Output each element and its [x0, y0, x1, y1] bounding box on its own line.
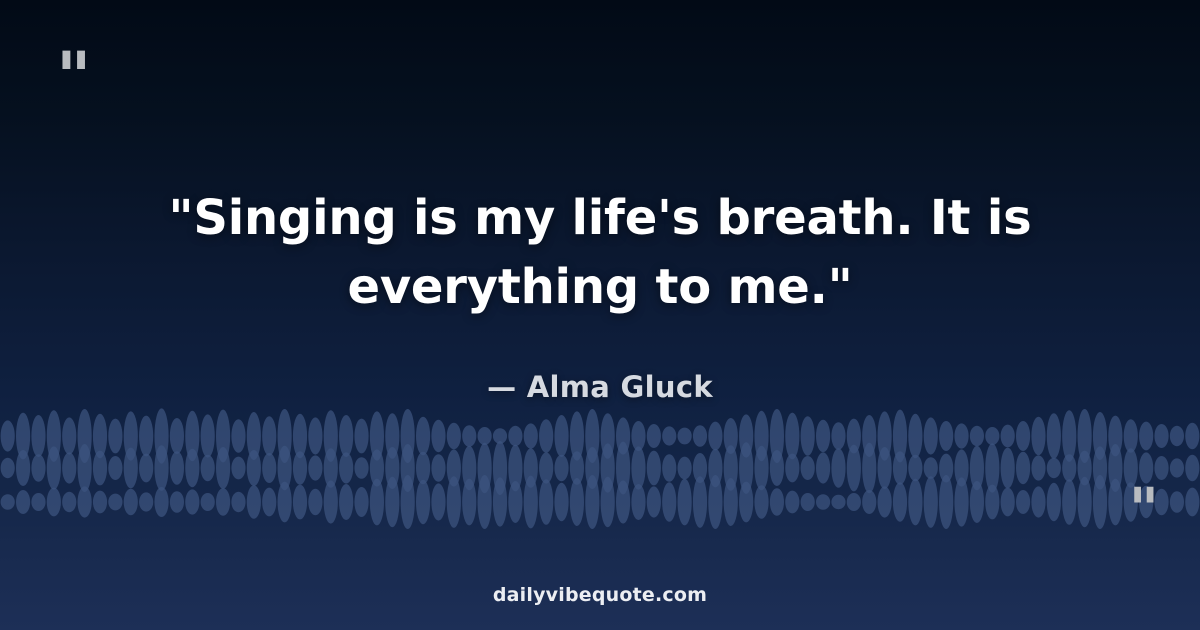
site-watermark: dailyvibequote.com: [0, 584, 1200, 606]
quote-text: "Singing is my life's breath. It is ever…: [125, 184, 1075, 322]
quote-content: "Singing is my life's breath. It is ever…: [0, 0, 1200, 630]
quote-card: " "Singing is my life's breath. It is ev…: [0, 0, 1200, 630]
quote-line-1: "Singing is my life's breath. It is: [169, 190, 1032, 246]
quote-attribution: — Alma Gluck: [487, 370, 713, 404]
close-quote-mark: ": [1129, 480, 1160, 538]
quote-line-2: everything to me.": [347, 259, 852, 315]
